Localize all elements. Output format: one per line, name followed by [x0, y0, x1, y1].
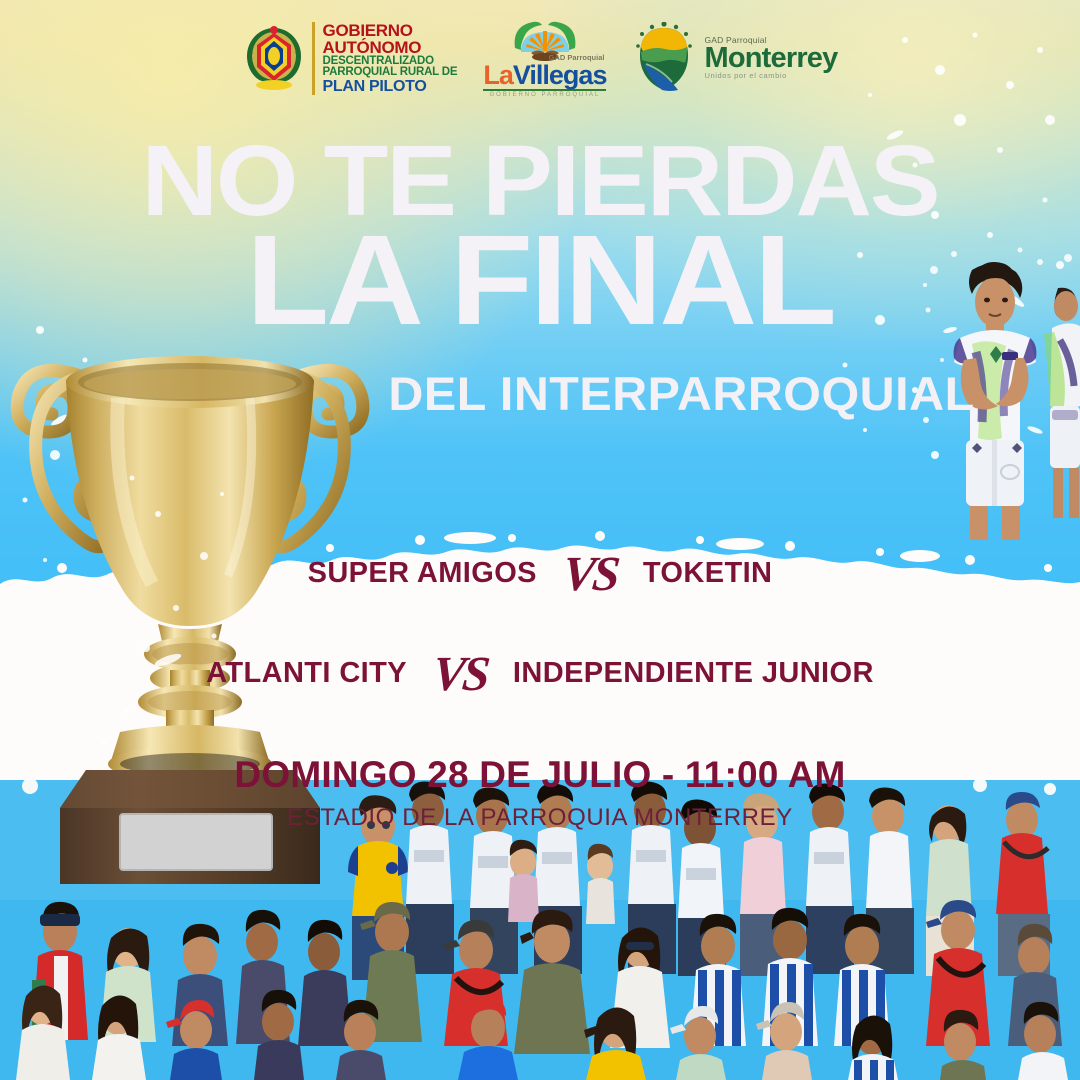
match-row-1: SUPER AMIGOS VS TOKETIN — [0, 545, 1080, 602]
logo-plan-piloto: GOBIERNO AUTÓNOMO DESCENTRALIZADO PARROQ… — [243, 22, 458, 95]
logo-monterrey: GAD Parroquial Monterrey Unidos por el c… — [632, 22, 837, 94]
monterrey-shield-icon — [632, 22, 696, 94]
logo-la-villegas-name: Villegas — [513, 60, 607, 90]
logo-plan-piloto-line4: PARROQUIAL RURAL DE — [323, 67, 458, 79]
headline-line-3: DEL INTERPARROQUIAL — [0, 370, 1080, 417]
logo-plan-piloto-line5: PLAN PILOTO — [323, 79, 458, 95]
event-datetime: DOMINGO 28 DE JULIO - 11:00 AM — [0, 754, 1080, 796]
match-2-away-team: INDEPENDIENTE JUNIOR — [513, 657, 874, 690]
match-1-home-team: SUPER AMIGOS — [308, 557, 537, 590]
poster-canvas: GOBIERNO AUTÓNOMO DESCENTRALIZADO PARROQ… — [0, 0, 1080, 1080]
event-details: SUPER AMIGOS VS TOKETIN ATLANTI CITY VS … — [0, 498, 1080, 832]
logo-row: GOBIERNO AUTÓNOMO DESCENTRALIZADO PARROQ… — [0, 18, 1080, 98]
headline-line-2-text: LA FINAL — [246, 209, 834, 352]
logo-la-villegas-superscript: GAD Parroquial — [549, 53, 605, 62]
match-row-2: ATLANTI CITY VS INDEPENDIENTE JUNIOR — [0, 645, 1080, 702]
match-2-home-team: ATLANTI CITY — [206, 657, 407, 690]
logo-plan-piloto-line1: GOBIERNO — [323, 22, 458, 39]
match-2-vs-label: VS — [430, 645, 490, 702]
logo-la-villegas: GAD Parroquial LaVillegas GOBIERNO PARRO… — [483, 18, 606, 98]
event-venue: ESTADIO DE LA PARROQUIA MONTERREY — [0, 804, 1080, 832]
logo-la-villegas-prefix: La — [483, 60, 513, 90]
logo-monterrey-name: Monterrey — [704, 45, 837, 73]
match-1-away-team: TOKETIN — [643, 557, 773, 590]
headline-line-3-text: DEL INTERPARROQUIAL — [388, 367, 974, 420]
logo-plan-piloto-line2: AUTÓNOMO — [323, 39, 458, 56]
match-1-vs-label: VS — [560, 545, 620, 602]
logo-la-villegas-footer: GOBIERNO PARROQUIAL — [483, 89, 606, 98]
headline-line-2: LA FINAL — [0, 222, 1080, 340]
coat-of-arms-icon — [243, 23, 305, 93]
